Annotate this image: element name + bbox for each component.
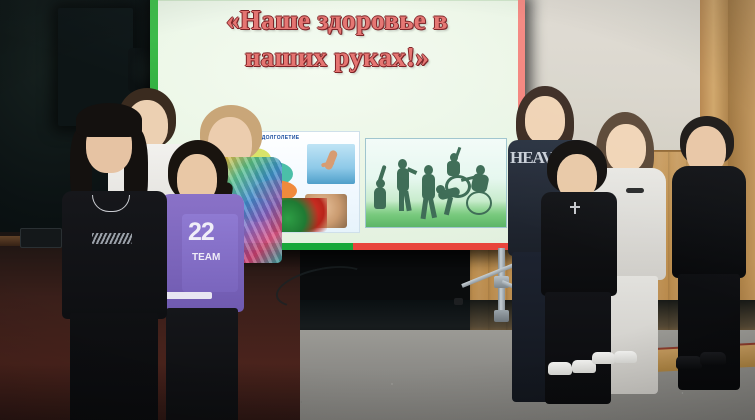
silhouette-leg-2b: [403, 191, 411, 212]
face: [525, 96, 565, 144]
silhouette-leg-5: [444, 197, 453, 216]
shoe-white-right-2: [614, 351, 637, 363]
person-black-outfit: [541, 140, 617, 380]
stage-equipment-box: [20, 228, 62, 248]
person-all-black: [672, 116, 746, 382]
photograph-scene: «Наше здоровье в наших руках!» ОЕ И АКТИ…: [0, 0, 755, 420]
hair-top: [76, 103, 142, 137]
sleeve-stripe: [162, 292, 212, 299]
shoe-black-left: [676, 356, 702, 369]
slide-title-line-1: «Наше здоровье в: [172, 2, 502, 39]
slide-border-bottom-right: [353, 243, 518, 250]
silhouette-arm-1: [377, 165, 386, 183]
silhouette-bike-wheel: [466, 191, 492, 215]
silhouette-body-3: [422, 174, 435, 200]
slide-border-top: [158, 0, 518, 1]
legs: [70, 313, 158, 420]
shoe-black-right: [700, 352, 726, 365]
diver-photo: [307, 144, 355, 184]
tripod-base: [494, 310, 509, 322]
person-purple-jersey: 22 TEAM: [160, 140, 244, 410]
legs: [166, 308, 238, 420]
person-black-sweatshirt: [62, 103, 167, 403]
hoodie-logo-icon: [626, 188, 644, 193]
silhouette-leg-3b: [428, 198, 437, 219]
silhouette-body-4: [447, 161, 460, 176]
jersey-team-text: TEAM: [192, 252, 220, 263]
silhouette-group: [366, 139, 506, 227]
slide-title: «Наше здоровье в наших руках!»: [172, 2, 502, 76]
shoe-white-left-2: [592, 352, 615, 364]
tripod-foot-left: [454, 298, 463, 305]
slide-title-line-2: наших руках!»: [172, 39, 502, 76]
sweatshirt-logo: [92, 233, 132, 244]
legs: [545, 292, 611, 404]
sports-silhouettes: [365, 138, 507, 228]
silhouette-body-2: [397, 168, 409, 192]
shoe-white-left: [548, 362, 572, 375]
silhouette-leg-3a: [421, 198, 429, 219]
silhouette-body-1: [374, 187, 386, 209]
diver-figure-icon: [324, 149, 339, 171]
jersey-number: 22: [188, 218, 214, 247]
cross-necklace-icon: [574, 202, 576, 214]
clothing-black-hoodie: [672, 166, 746, 278]
legs: [678, 274, 740, 390]
